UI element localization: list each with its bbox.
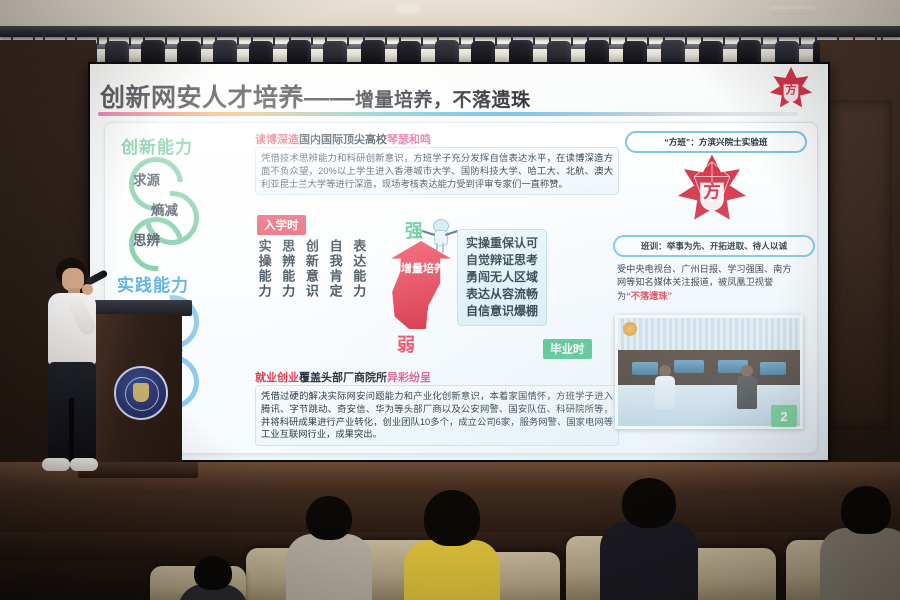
slide-content-panel: 创新能力 求源 熵减 思辨 实践能力 分析 验证 工程 读博深造国内国际顶尖高校: [104, 122, 818, 454]
innovation-loop-word-3: 思辨: [133, 229, 160, 249]
tag-graduate-time: 毕业时: [543, 339, 592, 359]
college-emblem: [114, 366, 168, 420]
logo-corner-character: 方: [785, 83, 796, 97]
headline-top-part-3: 琴瑟和鸣: [387, 134, 431, 146]
media-text-quote: “不落遗珠”: [626, 291, 672, 301]
headline-top-part-1: 读博深造: [255, 134, 299, 146]
outcome-item-4: 表达从容流畅: [466, 286, 538, 303]
guest-body: [655, 376, 675, 409]
channel-logo-icon: [623, 322, 637, 336]
fang-class-logo: 方: [675, 153, 749, 227]
outcome-item-2: 自觉辩证思考: [466, 252, 538, 269]
entry-column-2: 思辨能力: [281, 239, 295, 299]
audience-shoulders: [600, 522, 698, 600]
audience-shoulders: [820, 528, 900, 600]
innovation-loop-word-2: 熵减: [151, 199, 178, 219]
microphone: [86, 269, 109, 286]
headline-bottom-part-2: 覆盖头部厂商院所: [299, 372, 387, 384]
ceiling-light: [395, 4, 421, 14]
logo-character: 方: [703, 180, 721, 202]
audience-member: [178, 556, 248, 600]
presenter: [28, 258, 114, 488]
headline-bottom-part-1: 就业创业: [255, 372, 299, 384]
studio-host: [736, 365, 758, 413]
title-underline: [98, 112, 798, 116]
ceiling-vent: [770, 6, 816, 15]
slide-title-dash: ——: [304, 84, 355, 112]
emblem-shield: [133, 383, 149, 402]
studio-ceiling: [618, 318, 800, 355]
outcome-item-1: 实操重保认可: [466, 235, 538, 252]
growth-arrow: 增量培养: [391, 227, 455, 331]
headline-bottom: 就业创业覆盖头部厂商院所异彩纷呈: [255, 369, 431, 385]
entry-capability-columns: 实操能力 思辨能力 创新意识 自我肯定 表达能力: [257, 239, 365, 299]
entry-column-4: 自我肯定: [328, 239, 342, 299]
studio-monitor-4: [760, 362, 786, 375]
paragraph-top: 凭借技术思辨能力和科研创新意识，方班学子充分发挥自信表达水平，在读博深造方面不负…: [255, 147, 619, 195]
slide-title-sub: 增量培养，不落遗珠: [355, 90, 531, 111]
class-name-pill: “方班”：方滨兴院士实验班: [625, 131, 807, 153]
headline-top: 读博深造国内国际顶尖高校琴瑟和鸣: [255, 131, 431, 147]
studio-monitor-2: [674, 360, 704, 373]
headline-top-part-2: 国内国际顶尖高校: [299, 134, 387, 146]
innovation-loop-word-1: 求源: [133, 169, 160, 189]
class-motto-pill: 班训：举事为先、开拓进取、待人以诚: [613, 235, 815, 257]
entry-column-5: 表达能力: [352, 239, 366, 299]
growth-arrow-shape: [391, 241, 451, 329]
audience-head: [306, 496, 352, 540]
outcome-item-5: 自信意识爆棚: [466, 303, 538, 320]
fang-logo-corner-icon: 方: [768, 66, 814, 112]
entry-column-1: 实操能力: [257, 239, 271, 299]
audience-shoulders: [286, 534, 372, 600]
presenter-shoe-right: [70, 458, 98, 471]
audience-member: [404, 490, 500, 600]
host-body: [737, 376, 757, 409]
audience-shoulders: [404, 540, 500, 600]
audience-member: [600, 478, 698, 600]
outcome-item-3: 勇闯无人区域: [466, 269, 538, 286]
label-weak: 弱: [397, 331, 415, 357]
audience-head: [622, 478, 676, 528]
outcome-list: 实操重保认可 自觉辩证思考 勇闯无人区域 表达从容流畅 自信意识爆棚: [457, 229, 547, 326]
tag-entry-time: 入学时: [257, 215, 306, 235]
right-wall: [820, 40, 900, 510]
entry-column-3: 创新意识: [304, 239, 318, 299]
presenter-leg-split: [69, 398, 74, 462]
lecture-hall-scene: 创新网安人才培养——增量培养，不落遗珠 创新能力 求源 熵减 思辨 实践能力 分…: [0, 0, 900, 600]
audience-member: [286, 496, 372, 600]
presenter-shoe-left: [42, 458, 70, 471]
audience-member: [820, 486, 900, 600]
projection-screen: 创新网安人才培养——增量培养，不落遗珠 创新能力 求源 熵减 思辨 实践能力 分…: [90, 64, 828, 460]
media-coverage-text: 受中央电视台、广州日报、学习强国、南方网等知名媒体关注报道，被凤凰卫视誉为“不落…: [617, 263, 792, 303]
headline-bottom-part-3: 异彩纷呈: [387, 372, 431, 384]
growth-arrow-label: 增量培养: [401, 263, 445, 275]
audience-head: [841, 486, 891, 534]
audience-head: [424, 490, 480, 546]
side-door: [826, 100, 892, 430]
paragraph-bottom: 凭借过硬的解决实际网安问题能力和产业化创新意识，本着家国情怀，方班学子进入腾讯、…: [255, 385, 619, 446]
innovation-loop-diagram: 求源 熵减 思辨: [115, 155, 241, 275]
slide-title-main: 创新网安人才培养: [100, 84, 304, 112]
audience-head: [194, 556, 232, 590]
page-number-badge: 2: [771, 405, 797, 427]
slide-title: 创新网安人才培养——增量培养，不落遗珠: [100, 78, 740, 114]
studio-guest: [654, 365, 676, 413]
presenter-hand: [82, 284, 93, 295]
